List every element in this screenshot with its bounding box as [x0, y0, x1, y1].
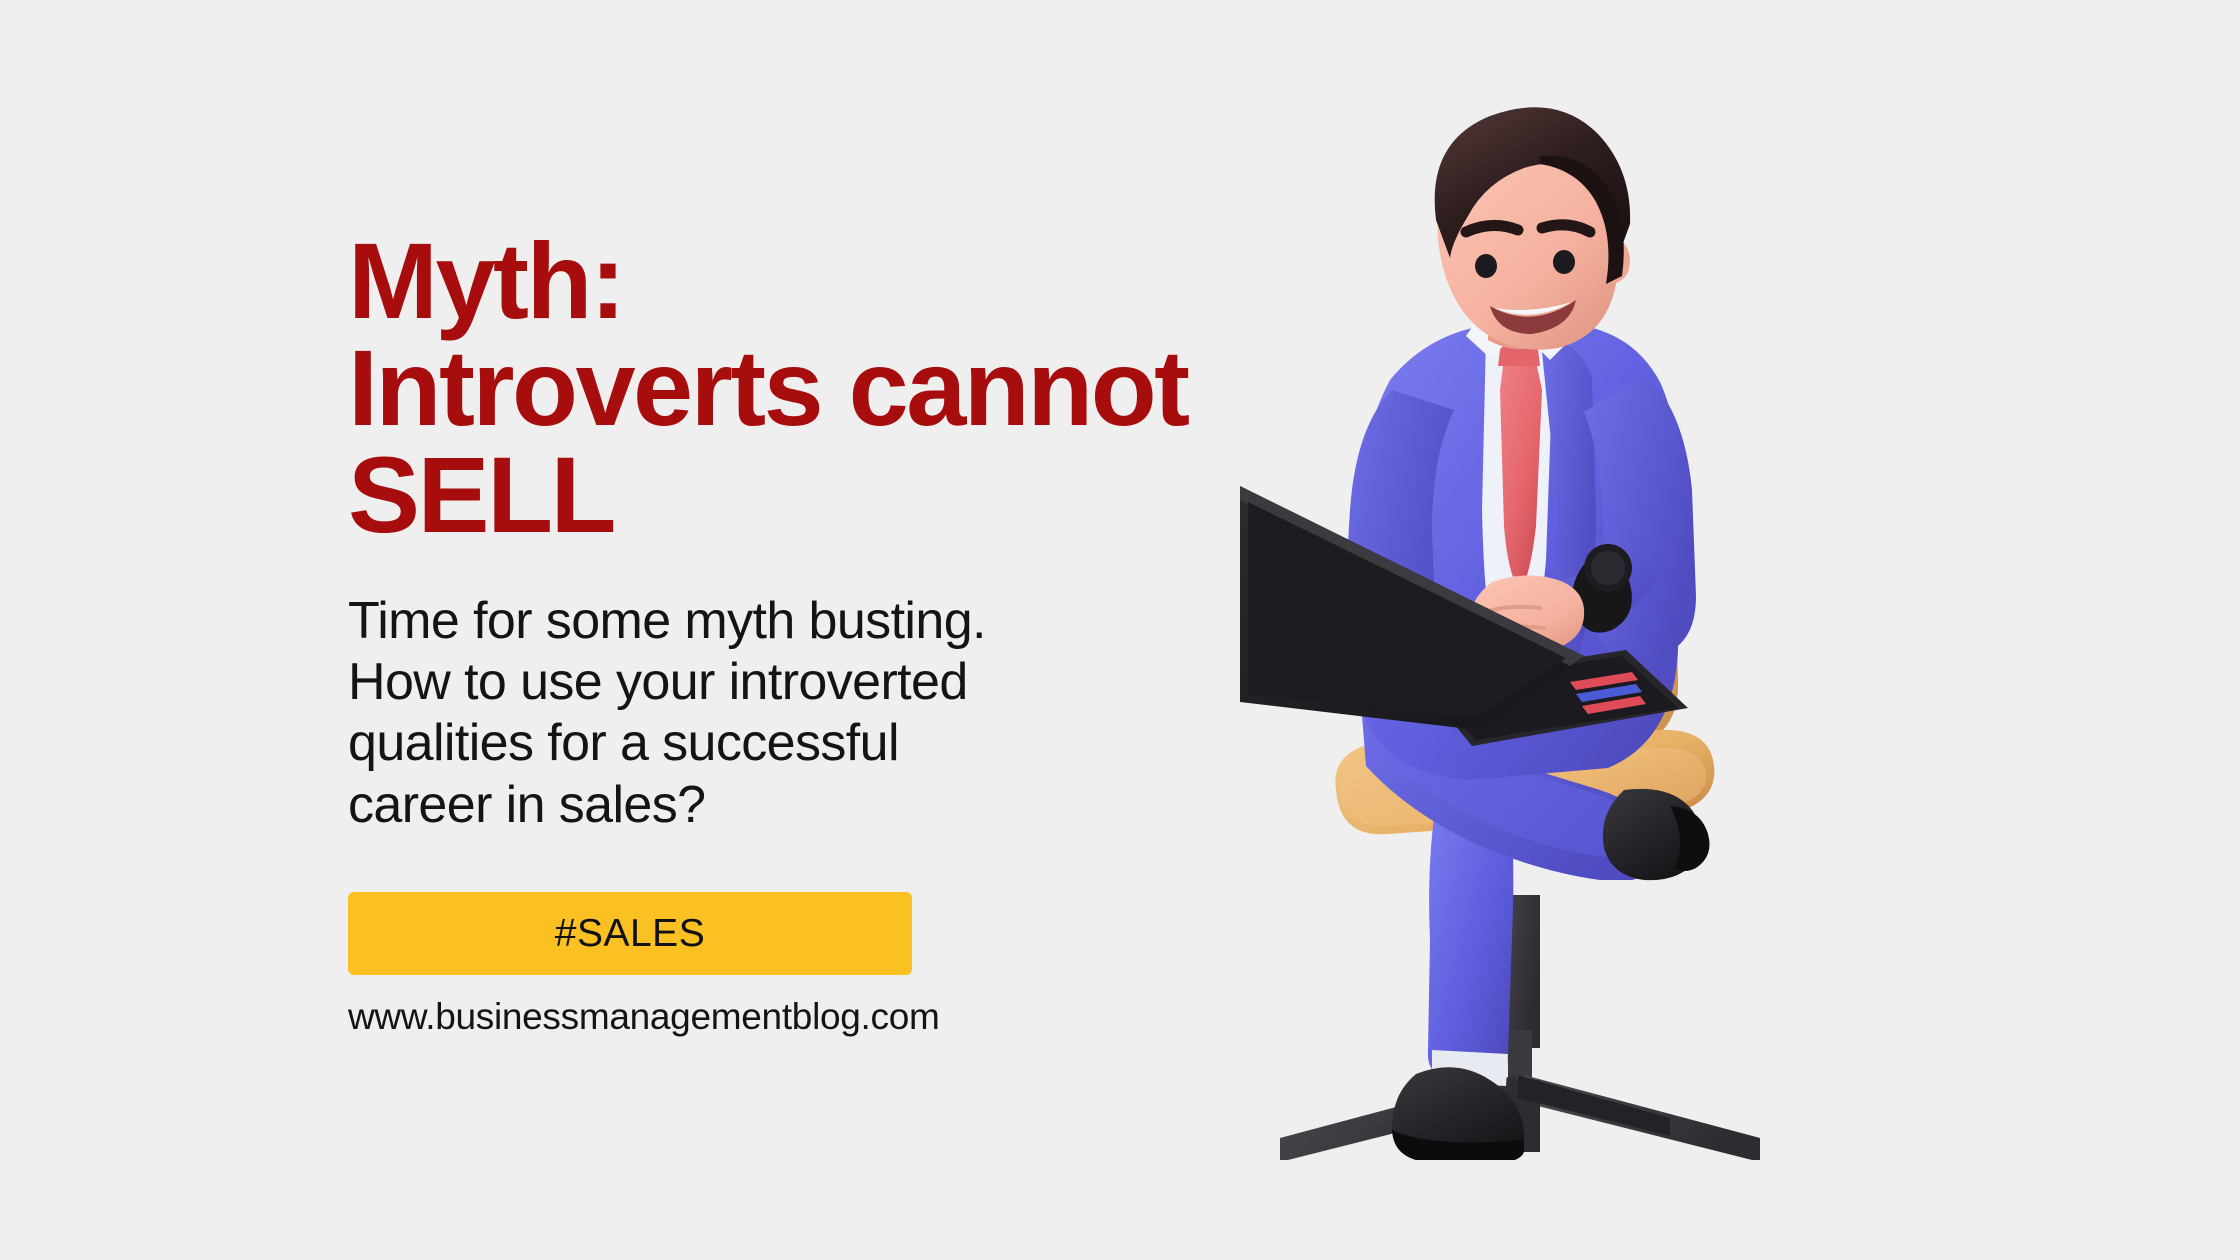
- hashtag-badge[interactable]: #SALES: [348, 892, 912, 975]
- website-url[interactable]: www.businessmanagementblog.com: [348, 996, 940, 1038]
- text-content-block: Myth: Introverts cannot SELL Time for so…: [348, 228, 1338, 836]
- head-group: [1435, 107, 1630, 349]
- poster-canvas: Myth: Introverts cannot SELL Time for so…: [0, 0, 2240, 1260]
- subheading-text: Time for some myth busting. How to use y…: [348, 549, 1338, 836]
- businessman-illustration: [1240, 90, 1800, 1160]
- page-title: Myth: Introverts cannot SELL: [348, 228, 1338, 549]
- hashtag-badge-label: #SALES: [555, 912, 705, 956]
